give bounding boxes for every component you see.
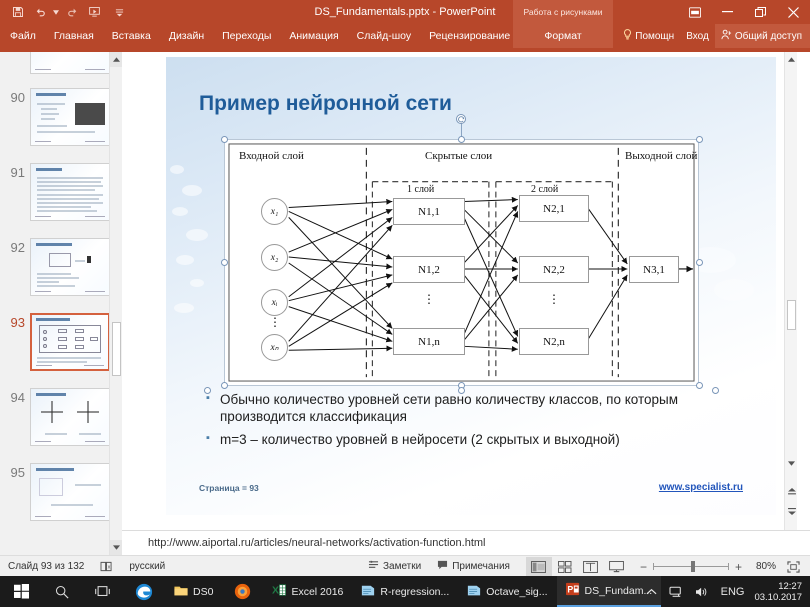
decor-bubble	[186, 229, 208, 241]
decor-bubble	[174, 303, 194, 313]
hidden2-node: N2,1	[519, 195, 589, 222]
list-item[interactable]: 90	[0, 88, 122, 146]
list-item[interactable]: 95	[0, 463, 122, 521]
ribbon-display-options-button[interactable]	[678, 0, 711, 24]
next-slide-icon[interactable]	[785, 504, 798, 518]
tab-design[interactable]: Дизайн	[160, 24, 213, 48]
previous-slide-icon[interactable]	[785, 484, 798, 498]
list-item[interactable]	[0, 52, 122, 74]
share-label: Общий доступ	[735, 31, 802, 42]
zoom-knob[interactable]	[691, 561, 695, 572]
slide-editing-area: Пример нейронной сети	[122, 52, 797, 530]
save-icon[interactable]	[8, 3, 28, 21]
restore-button[interactable]	[744, 0, 777, 24]
hidden1-ellipsis: ⋮	[420, 297, 438, 301]
close-button[interactable]	[777, 0, 810, 24]
list-item[interactable]: 92	[0, 238, 122, 296]
decor-bubble	[170, 165, 184, 174]
octave-label: Octave_sig...	[486, 586, 547, 598]
tab-animations[interactable]: Анимация	[280, 24, 347, 48]
explorer-ds0-button[interactable]: DS0	[165, 576, 222, 607]
clock[interactable]: 12:27 03.10.2017	[750, 581, 810, 603]
thumb-preview[interactable]	[30, 238, 110, 296]
slide-sorter-button[interactable]	[552, 557, 578, 576]
firefox-button[interactable]	[222, 576, 263, 607]
status-bar: Слайд 93 из 132 x русский Заметки Примеч…	[0, 555, 810, 576]
layer-header-input: Входной слой	[239, 150, 304, 162]
output-node: N3,1	[629, 256, 679, 283]
title-bar: DS_Fundamentals.pptx - PowerPoint Работа…	[0, 0, 810, 24]
zoom-track[interactable]	[653, 566, 729, 567]
thumb-preview[interactable]	[30, 163, 110, 221]
list-item[interactable]: 91	[0, 163, 122, 221]
excel-button[interactable]: X Excel 2016	[263, 576, 352, 607]
notepad-icon	[467, 584, 481, 600]
input-node: x₁	[261, 198, 288, 225]
notes-label: Заметки	[383, 561, 421, 572]
reading-view-button[interactable]	[578, 557, 604, 576]
notes-button[interactable]: Заметки	[360, 560, 429, 573]
comments-label: Примечания	[452, 561, 510, 572]
volume-icon[interactable]	[689, 586, 715, 598]
decor-bubble	[172, 207, 188, 216]
contextual-tab-group-label: Работа с рисунками	[513, 0, 613, 24]
slide-area-scrollbar[interactable]	[784, 52, 797, 530]
scroll-up-icon[interactable]	[110, 52, 122, 67]
slide-canvas[interactable]: Пример нейронной сети	[166, 57, 776, 515]
hidden2-node: N2,n	[519, 328, 589, 355]
comments-button[interactable]: Примечания	[429, 560, 518, 573]
selection-handle-w[interactable]	[221, 259, 228, 266]
list-item[interactable]: 93	[0, 313, 122, 371]
fit-to-window-button[interactable]	[780, 557, 806, 576]
notes-pane[interactable]: http://www.aiportal.ru/articles/neural-n…	[122, 530, 810, 555]
network-icon[interactable]	[663, 586, 689, 598]
sublayer-label-2: 2 слой	[531, 184, 558, 195]
zoom-in-button[interactable]: +	[729, 560, 748, 574]
lightbulb-icon	[623, 29, 632, 43]
clock-date: 03.10.2017	[754, 592, 802, 603]
zoom-slider[interactable]: − +	[630, 560, 752, 574]
customize-quick-access-icon[interactable]	[109, 3, 129, 21]
decor-bubble	[176, 255, 194, 265]
selection-handle-n[interactable]	[458, 136, 465, 143]
tab-review[interactable]: Рецензирование	[420, 24, 519, 48]
svg-text:X: X	[272, 585, 279, 597]
thumb-number: 91	[0, 163, 30, 221]
tell-me-help[interactable]: Помощн	[617, 24, 680, 48]
hidden1-node: N1,1	[393, 198, 465, 225]
notepad-icon	[361, 584, 375, 600]
input-node: xₙ	[261, 334, 288, 361]
thumb-preview-selected[interactable]	[30, 313, 110, 371]
person-share-icon	[721, 29, 732, 43]
hidden1-node: N1,n	[393, 328, 465, 355]
selection-handle-sw[interactable]	[221, 382, 228, 389]
thumb-number: 92	[0, 238, 30, 296]
decor-bubble	[182, 185, 202, 196]
rotation-handle[interactable]	[456, 114, 466, 124]
thumb-preview[interactable]	[30, 88, 110, 146]
thumb-preview[interactable]	[30, 52, 110, 74]
hidden2-node: N2,2	[519, 256, 589, 283]
show-hidden-icons-button[interactable]	[640, 588, 663, 596]
bullet-item: m=3 – количество уровней в нейросети (2 …	[206, 431, 726, 448]
scrollbar-thumb[interactable]	[112, 322, 121, 376]
zoom-level[interactable]: 80%	[752, 561, 780, 572]
tab-slideshow[interactable]: Слайд-шоу	[348, 24, 420, 48]
notes-text: http://www.aiportal.ru/articles/neural-n…	[148, 537, 485, 549]
clock-time: 12:27	[754, 581, 802, 592]
tab-transitions[interactable]: Переходы	[213, 24, 280, 48]
undo-dropdown-icon[interactable]	[52, 3, 60, 21]
thumb-number: 90	[0, 88, 30, 146]
tab-file[interactable]: Файл	[0, 24, 45, 48]
svg-text:x: x	[108, 564, 111, 570]
ribbon-right-group: Помощн Вход Общий доступ	[617, 24, 810, 48]
decor-bubble	[190, 279, 204, 287]
powerpoint-icon: P	[566, 582, 580, 599]
scrollbar-thumb[interactable]	[787, 300, 796, 330]
thumb-preview[interactable]	[30, 463, 110, 521]
window-controls	[678, 0, 810, 24]
layer-header-output: Выходной слой	[625, 150, 697, 162]
scroll-up-icon[interactable]	[785, 52, 798, 66]
share-button[interactable]: Общий доступ	[715, 24, 810, 48]
quick-access-toolbar	[0, 3, 129, 21]
tab-format[interactable]: Формат	[513, 24, 613, 48]
task-view-button[interactable]	[82, 576, 123, 607]
scroll-down-icon[interactable]	[785, 456, 798, 470]
slide-thumbnail-pane[interactable]: 90 91	[0, 52, 122, 555]
slide-footer-link[interactable]: www.specialist.ru	[659, 482, 743, 493]
body-text-placeholder[interactable]: Обычно количество уровней сети равно кол…	[206, 391, 726, 469]
decor-bubble	[714, 279, 754, 301]
comment-icon	[437, 560, 448, 573]
scroll-down-icon[interactable]	[110, 540, 122, 555]
thumb-number: 94	[0, 388, 30, 446]
zoom-out-button[interactable]: −	[634, 560, 653, 574]
signin-button[interactable]: Вход	[680, 24, 715, 48]
page-title[interactable]: Пример нейронной сети	[199, 92, 452, 116]
windows-taskbar: DS0 X Excel 2016 R-regression... Octave_…	[0, 576, 810, 607]
normal-view-button[interactable]	[526, 557, 552, 576]
spellcheck-icon[interactable]: x	[92, 561, 121, 572]
thumb-preview[interactable]	[30, 388, 110, 446]
start-button[interactable]	[0, 576, 42, 607]
start-slideshow-icon[interactable]	[84, 3, 104, 21]
sublayer-label-1: 1 слой	[407, 184, 434, 195]
list-item[interactable]: 94	[0, 388, 122, 446]
explorer-label: DS0	[193, 586, 213, 598]
selection-handle-nw[interactable]	[221, 136, 228, 143]
input-ellipsis: ⋮	[266, 320, 284, 324]
edge-button[interactable]	[123, 576, 165, 607]
slideshow-button[interactable]	[604, 557, 630, 576]
svg-text:P: P	[567, 585, 573, 595]
r-regression-label: R-regression...	[380, 586, 449, 598]
tab-insert[interactable]: Вставка	[103, 24, 160, 48]
language-indicator[interactable]: ENG	[715, 586, 751, 598]
status-bar-right: Заметки Примечания −	[360, 556, 810, 577]
powerpoint-window: DS_Fundamentals.pptx - PowerPoint Работа…	[0, 0, 810, 607]
slide-footer-page: Страница = 93	[199, 483, 259, 493]
bullet-item: Обычно количество уровней сети равно кол…	[206, 391, 726, 425]
r-regression-button[interactable]: R-regression...	[352, 576, 458, 607]
work-area: 90 91	[0, 52, 810, 555]
slide-counter[interactable]: Слайд 93 из 132	[0, 561, 92, 572]
redo-icon[interactable]	[62, 3, 82, 21]
thumb-number	[0, 52, 30, 74]
thumb-number: 95	[0, 463, 30, 521]
undo-icon[interactable]	[30, 3, 50, 21]
neural-network-image[interactable]: Входной слой Скрытые слои Выходной слой …	[224, 139, 699, 386]
excel-label: Excel 2016	[291, 586, 343, 598]
contextual-tab-group-text: Работа с рисунками	[524, 7, 603, 17]
minimize-button[interactable]	[711, 0, 744, 24]
thumb-number: 93	[0, 313, 30, 371]
hidden2-ellipsis: ⋮	[545, 297, 563, 301]
help-label: Помощн	[635, 31, 674, 42]
layer-header-hidden: Скрытые слои	[425, 150, 492, 162]
input-node: xᵢ	[261, 289, 288, 316]
tab-home[interactable]: Главная	[45, 24, 103, 48]
excel-icon: X	[272, 583, 286, 600]
selection-handle-se[interactable]	[696, 382, 703, 389]
selection-handle-e[interactable]	[696, 259, 703, 266]
system-tray: ENG 12:27 03.10.2017	[640, 576, 810, 607]
search-button[interactable]	[42, 576, 82, 607]
ribbon-tab-bar: Файл Главная Вставка Дизайн Переходы Ани…	[0, 24, 810, 48]
hidden1-node: N1,2	[393, 256, 465, 283]
folder-icon	[174, 584, 188, 600]
thumbnail-pane-scrollbar[interactable]	[109, 52, 122, 555]
selection-handle-ne[interactable]	[696, 136, 703, 143]
octave-button[interactable]: Octave_sig...	[458, 576, 556, 607]
notes-icon	[368, 560, 379, 573]
input-node: x₂	[261, 244, 288, 271]
language-indicator[interactable]: русский	[121, 561, 173, 572]
